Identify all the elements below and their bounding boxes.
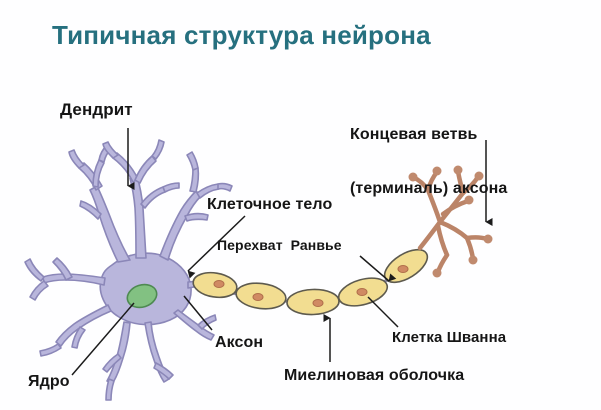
- dendrite-twig-ul-2: [69, 150, 84, 168]
- label-nucleus: Ядро: [28, 373, 70, 391]
- schwann-nucleus-2: [253, 294, 263, 301]
- dendrite-twig-ur-5: [185, 214, 208, 221]
- label-node-of-ranvier: Перехват Ранвье: [217, 238, 342, 254]
- label-schwann-cell: Клетка Шванна: [392, 330, 506, 347]
- dendrite-twig-ur-1: [190, 168, 198, 192]
- label-axon-terminal-line2: (терминаль) аксона: [350, 180, 507, 198]
- dendrite-twig-l-2: [30, 281, 48, 300]
- dendrite-twig-ur-2: [187, 152, 198, 170]
- schwann-nucleus-1: [214, 281, 224, 288]
- schwann-nucleus-4: [357, 289, 367, 296]
- label-cell-body: Клеточное тело: [207, 196, 332, 214]
- dendrite-branch-upper-left: [90, 186, 130, 262]
- dendrite-twig-c-6: [163, 183, 179, 192]
- leader-schwann-cell: [368, 297, 398, 327]
- schwann-nucleus-3: [313, 300, 323, 307]
- dendrite-twig-b1-2: [106, 379, 114, 400]
- leader-node-of-ranvier: [360, 256, 389, 281]
- dendrite-twig-c-1: [113, 153, 138, 182]
- label-axon-terminal-line1: Концевая ветвь: [350, 126, 507, 144]
- label-axon-terminal: Концевая ветвь (терминаль) аксона: [350, 90, 507, 233]
- label-axon: Аксон: [215, 334, 263, 352]
- schwann-nucleus-5: [398, 266, 408, 273]
- dendrite-branch-left: [43, 274, 105, 285]
- dendrite-twig-c-3: [135, 156, 156, 183]
- dendrite-branch-upper-right: [160, 191, 201, 260]
- label-dendrite: Дендрит: [60, 100, 133, 119]
- dendrite-twig-l-1: [25, 259, 44, 281]
- axon-with-myelin: [191, 243, 432, 315]
- dendrite-twig-ur-4: [218, 184, 232, 191]
- dendrite-twig-ll-1: [40, 344, 61, 356]
- dendrite-twig-c-5: [141, 187, 165, 208]
- neuron-diagram-canvas: Типичная структура нейрона: [0, 0, 601, 410]
- dendrite-twig-c-4: [152, 140, 164, 159]
- label-myelin-sheath: Миелиновая оболочка: [284, 367, 464, 385]
- dendrite-branch-center: [130, 176, 146, 258]
- dendrite-twig-ul-3: [93, 160, 104, 187]
